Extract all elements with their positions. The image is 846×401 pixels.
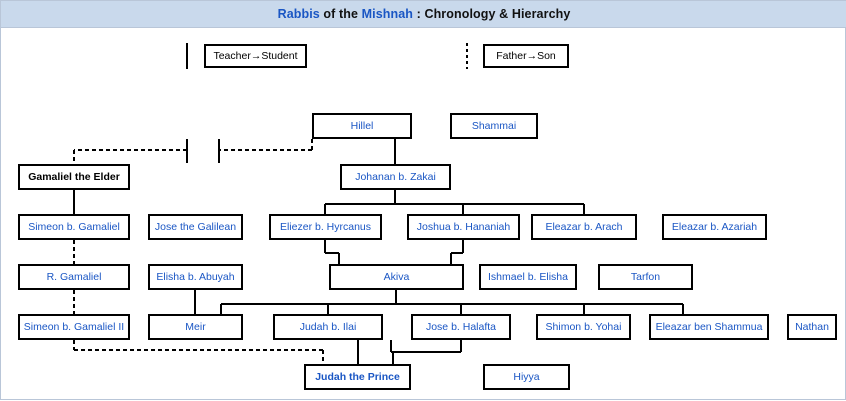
node-shimon-b-yohai[interactable]: Shimon b. Yohai	[536, 314, 631, 340]
node-label: Nathan	[795, 322, 829, 333]
node-ishmael-b-elisha[interactable]: Ishmael b. Elisha	[479, 264, 577, 290]
legend-label-father-son: Father→Son	[496, 50, 556, 62]
node-label: Simeon b. Gamaliel	[28, 222, 120, 233]
node-eleazar-ben-shammua[interactable]: Eleazar ben Shammua	[649, 314, 769, 340]
legend-father-son: Father→Son	[483, 44, 569, 68]
node-label: Jose the Galilean	[155, 222, 236, 233]
node-meir[interactable]: Meir	[148, 314, 243, 340]
node-label: R. Gamaliel	[47, 272, 102, 283]
title-word-rabbis: Rabbis	[278, 7, 320, 21]
node-label: Hiyya	[513, 372, 539, 383]
node-label: Eleazar ben Shammua	[656, 322, 763, 333]
title-word-ofthe: of the	[320, 7, 362, 21]
node-hillel[interactable]: Hillel	[312, 113, 412, 139]
node-label: Judah the Prince	[315, 372, 400, 383]
node-eleazar-b-azariah[interactable]: Eleazar b. Azariah	[662, 214, 767, 240]
title-word-mishnah: Mishnah	[362, 7, 413, 21]
edge-hillel-gamaliel-elder	[74, 139, 312, 164]
node-label: Gamaliel the Elder	[28, 172, 120, 183]
edge-johanan-students	[325, 190, 584, 214]
page-title: Rabbis of the Mishnah : Chronology & Hie…	[278, 7, 571, 21]
node-label: Shimon b. Yohai	[546, 322, 622, 333]
node-label: Akiva	[384, 272, 410, 283]
node-label: Joshua b. Hananiah	[417, 222, 510, 233]
node-label: Meir	[185, 322, 205, 333]
node-shammai[interactable]: Shammai	[450, 113, 538, 139]
node-r-gamaliel[interactable]: R. Gamaliel	[18, 264, 130, 290]
node-judah-the-prince[interactable]: Judah the Prince	[304, 364, 411, 390]
node-judah-b-ilai[interactable]: Judah b. Ilai	[273, 314, 383, 340]
node-label: Eliezer b. Hyrcanus	[280, 222, 371, 233]
node-tarfon[interactable]: Tarfon	[598, 264, 693, 290]
node-akiva[interactable]: Akiva	[329, 264, 464, 290]
node-eleazar-b-arach[interactable]: Eleazar b. Arach	[531, 214, 637, 240]
node-simeon-b-gamaliel[interactable]: Simeon b. Gamaliel	[18, 214, 130, 240]
edge-josehalafta-judahprince	[391, 340, 393, 364]
legend-teacher-student: Teacher→Student	[204, 44, 307, 68]
node-eliezer-b-hyrcanus[interactable]: Eliezer b. Hyrcanus	[269, 214, 382, 240]
node-gamaliel-the-elder[interactable]: Gamaliel the Elder	[18, 164, 130, 190]
node-jose-b-halafta[interactable]: Jose b. Halafta	[411, 314, 511, 340]
node-hiyya[interactable]: Hiyya	[483, 364, 570, 390]
node-label: Judah b. Ilai	[300, 322, 357, 333]
node-label: Eleazar b. Arach	[545, 222, 622, 233]
node-simeon-b-gamaliel-ii[interactable]: Simeon b. Gamaliel II	[18, 314, 130, 340]
edge-josehalafta-elbow-right	[393, 340, 461, 352]
legend-label-teacher-student: Teacher→Student	[213, 50, 297, 62]
node-label: Tarfon	[631, 272, 660, 283]
node-label: Jose b. Halafta	[426, 322, 496, 333]
node-label: Elisha b. Abuyah	[156, 272, 234, 283]
node-nathan[interactable]: Nathan	[787, 314, 837, 340]
node-joshua-b-hananiah[interactable]: Joshua b. Hananiah	[407, 214, 520, 240]
node-label: Eleazar b. Azariah	[672, 222, 757, 233]
diagram-page: Rabbis of the Mishnah : Chronology & Hie…	[0, 0, 846, 400]
node-jose-the-galilean[interactable]: Jose the Galilean	[148, 214, 243, 240]
edge-eliezer-akiva	[325, 240, 339, 264]
node-label: Ishmael b. Elisha	[488, 272, 568, 283]
edge-joshua-akiva	[451, 240, 463, 264]
edge-akiva-students	[221, 290, 683, 314]
title-word-subtitle: : Chronology & Hierarchy	[413, 7, 570, 21]
node-label: Hillel	[351, 121, 374, 132]
node-label: Simeon b. Gamaliel II	[24, 322, 124, 333]
page-header: Rabbis of the Mishnah : Chronology & Hie…	[1, 1, 846, 28]
connector-lines-layer	[1, 1, 846, 401]
edge-simeongamaliel2-judahprince	[74, 340, 323, 364]
node-label: Johanan b. Zakai	[355, 172, 436, 183]
node-label: Shammai	[472, 121, 516, 132]
node-johanan-b-zakai[interactable]: Johanan b. Zakai	[340, 164, 451, 190]
node-elisha-b-abuyah[interactable]: Elisha b. Abuyah	[148, 264, 243, 290]
